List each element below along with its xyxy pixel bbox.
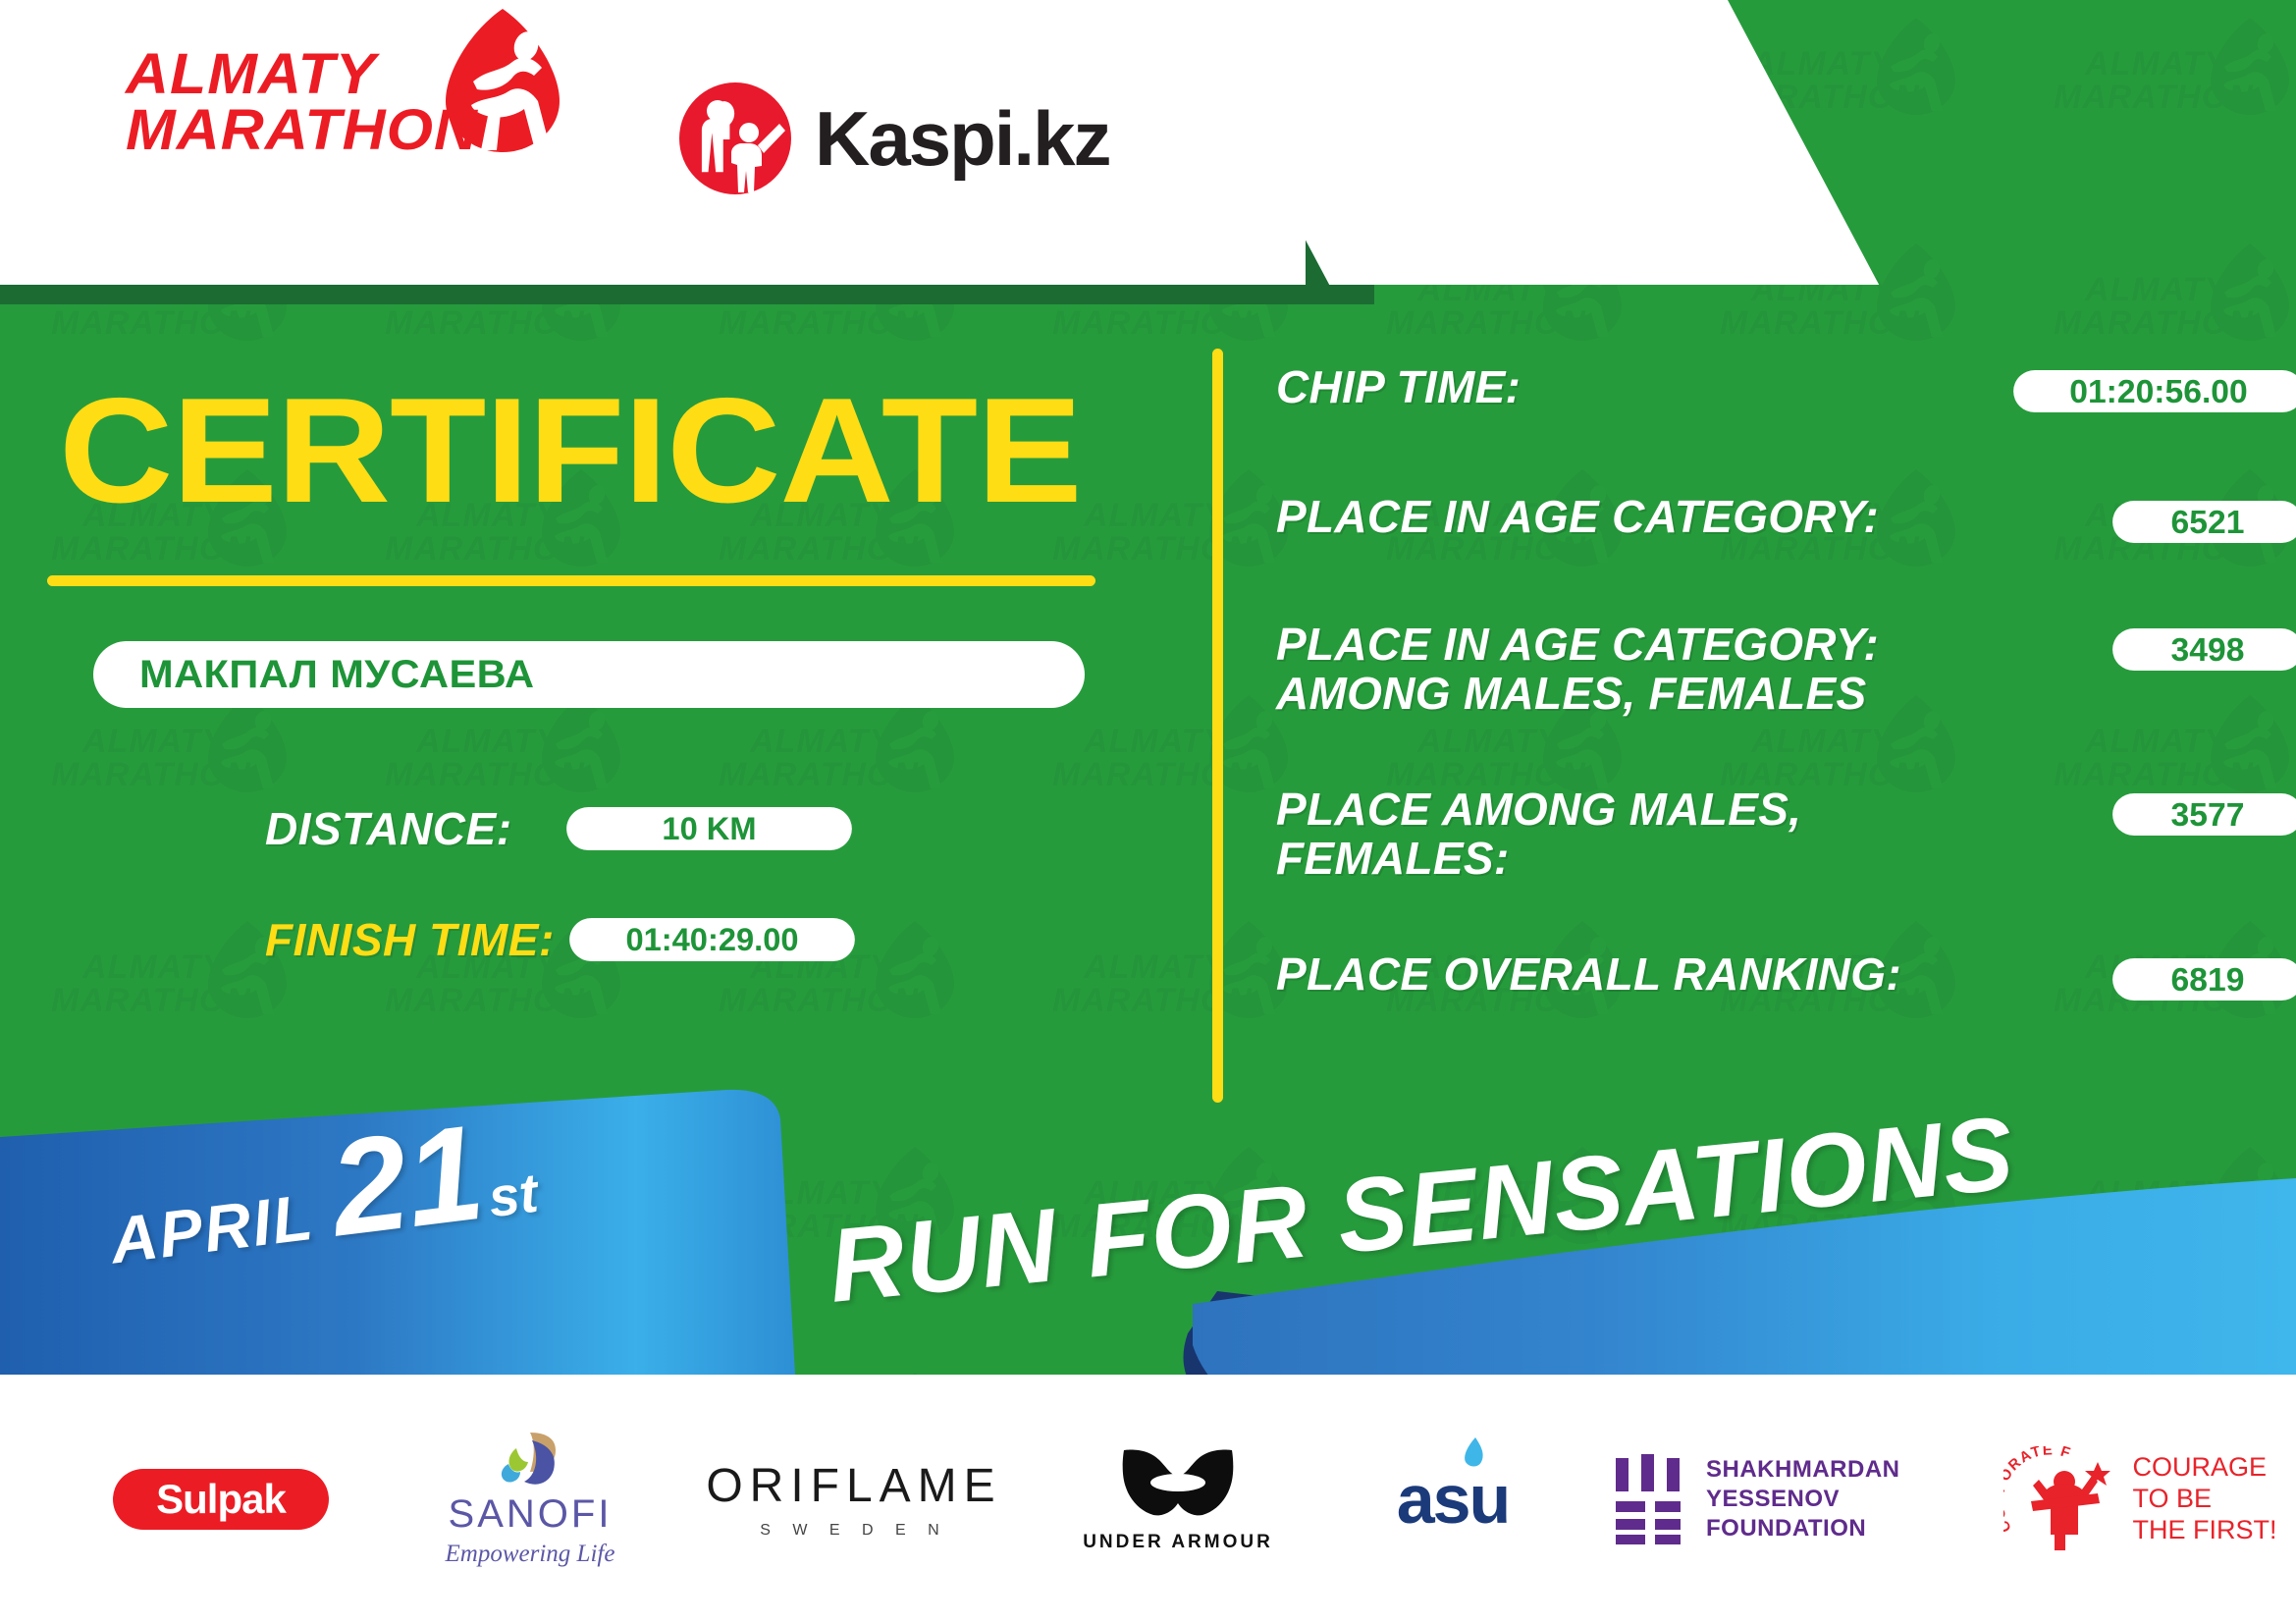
kaspi-logo-text: Kaspi.kz xyxy=(815,94,1109,184)
courage-runner-icon: CORPORATE FUND xyxy=(2003,1446,2119,1552)
title-underline-rule xyxy=(47,575,1095,586)
event-day: 21 xyxy=(325,1111,489,1251)
result-row-chip-time: CHIP TIME: 01:20:56.00 xyxy=(1276,363,2296,412)
sponsor-asu: asu xyxy=(1325,1431,1580,1568)
finish-time-row: FINISH TIME: 01:40:29.00 xyxy=(265,913,852,966)
sanofi-bird-icon xyxy=(491,1431,569,1488)
event-day-suffix: st xyxy=(485,1161,541,1230)
courage-slogan: COURAGETO BETHE FIRST! xyxy=(2133,1452,2277,1544)
oriflame-sub-text: S W E D E N xyxy=(706,1522,1001,1540)
courage-logo-text: COURAGETO BETHE FIRST! xyxy=(2133,1452,2277,1546)
sponsor-under-armour: UNDER ARMOUR xyxy=(1031,1431,1325,1568)
finish-time-label: FINISH TIME: xyxy=(265,913,555,966)
result-label: PLACE AMONG MALES,FEMALES: xyxy=(1276,785,1801,883)
result-row-place-age-category: PLACE IN AGE CATEGORY: 6521 xyxy=(1276,493,2296,542)
result-row-place-among-males-females: PLACE AMONG MALES,FEMALES: 3577 xyxy=(1276,785,2296,883)
page-title: CERTIFICATE xyxy=(59,376,1082,525)
asu-droplet-icon xyxy=(1460,1436,1487,1470)
distance-value: 10 KM xyxy=(566,807,852,850)
under-armour-icon xyxy=(1120,1446,1236,1521)
result-value: 01:20:56.00 xyxy=(2013,370,2296,412)
sponsor-sanofi: SANOFI Empowering Life xyxy=(383,1431,677,1568)
sulpak-logo-text: Sulpak xyxy=(113,1469,329,1530)
yessenov-logo-text: SHAKHMARDAN YESSENOV FOUNDATION xyxy=(1706,1455,1961,1543)
finish-time-value: 01:40:29.00 xyxy=(569,918,855,961)
vertical-divider xyxy=(1212,349,1223,1103)
kaspi-people-circle-icon xyxy=(677,81,793,196)
result-label: PLACE OVERALL RANKING: xyxy=(1276,950,1901,1000)
participant-name-value: МАКПАЛ МУСАЕВА xyxy=(139,653,534,697)
result-row-place-overall-ranking: PLACE OVERALL RANKING: 6819 xyxy=(1276,950,2296,1000)
under-armour-logo-text: UNDER ARMOUR xyxy=(1083,1532,1273,1553)
distance-row: DISTANCE: 10 KM xyxy=(265,802,849,855)
sponsor-oriflame: ORIFLAME S W E D E N xyxy=(677,1431,1031,1568)
result-label: PLACE IN AGE CATEGORY:AMONG MALES, FEMAL… xyxy=(1276,621,1879,718)
asu-logo-text: asu xyxy=(1397,1460,1510,1539)
sponsor-sulpak: Sulpak xyxy=(59,1431,383,1568)
yessenov-bars-icon xyxy=(1612,1454,1684,1544)
result-value: 3577 xyxy=(2112,793,2296,836)
distance-label: DISTANCE: xyxy=(265,802,512,855)
almaty-marathon-logo-line2: MARATHON xyxy=(126,103,478,157)
sponsor-yessenov-foundation: SHAKHMARDAN YESSENOV FOUNDATION xyxy=(1580,1431,1993,1568)
almaty-marathon-logo: ALMATY MARATHON xyxy=(126,47,561,157)
result-value: 6521 xyxy=(2112,501,2296,543)
result-row-place-age-category-among: PLACE IN AGE CATEGORY:AMONG MALES, FEMAL… xyxy=(1276,621,2296,718)
result-label: CHIP TIME: xyxy=(1276,363,1521,412)
almaty-marathon-logo-line1: ALMATY xyxy=(126,47,478,101)
result-value: 6819 xyxy=(2112,958,2296,1001)
kaspi-logo: Kaspi.kz xyxy=(677,81,1109,196)
sponsor-courage-fund: CORPORATE FUND COURAGETO BETHE FIRST! xyxy=(1993,1431,2287,1568)
participant-name-field: МАКПАЛ МУСАЕВА xyxy=(93,641,1085,708)
result-value: 3498 xyxy=(2112,628,2296,671)
sanofi-logo-text: SANOFI xyxy=(446,1492,615,1537)
sanofi-tagline: Empowering Life xyxy=(446,1541,615,1568)
sponsor-strip: Sulpak SANOFI Empowering Life ORIFLAME S… xyxy=(0,1375,2296,1624)
oriflame-logo-text: ORIFLAME xyxy=(706,1459,1001,1513)
result-label: PLACE IN AGE CATEGORY: xyxy=(1276,493,1879,542)
